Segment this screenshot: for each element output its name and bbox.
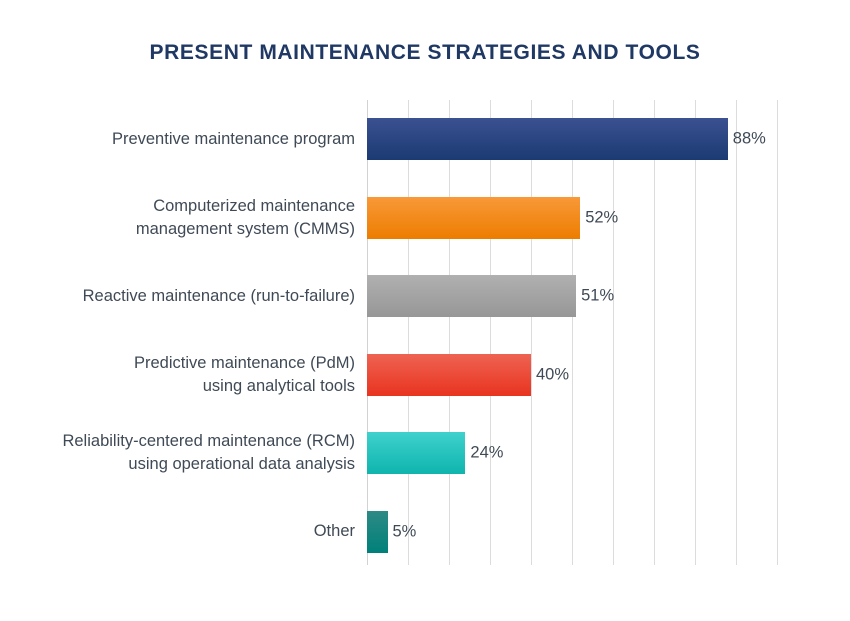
bar-row: 40% xyxy=(367,354,777,396)
category-label: Other xyxy=(10,520,355,543)
bar[interactable] xyxy=(367,197,580,239)
bar[interactable] xyxy=(367,511,388,553)
category-label-line: Reactive maintenance (run-to-failure) xyxy=(10,285,355,308)
category-label-line: management system (CMMS) xyxy=(10,218,355,241)
category-label: Reliability-centered maintenance (RCM)us… xyxy=(10,430,355,476)
bar-row: 24% xyxy=(367,432,777,474)
bar-value-label: 88% xyxy=(728,130,766,149)
bar-row: 5% xyxy=(367,511,777,553)
bar[interactable] xyxy=(367,275,576,317)
category-label-line: Reliability-centered maintenance (RCM) xyxy=(10,430,355,453)
plot-wrapper: Preventive maintenance programComputeriz… xyxy=(0,100,850,580)
gridline xyxy=(490,100,491,565)
bar[interactable] xyxy=(367,354,531,396)
plot-area: 88%52%51%40%24%5% xyxy=(367,100,777,565)
category-label-line: Predictive maintenance (PdM) xyxy=(10,352,355,375)
bar-row: 88% xyxy=(367,118,777,160)
category-label-line: Other xyxy=(10,520,355,543)
bar[interactable] xyxy=(367,118,728,160)
bar-chart-figure: PRESENT MAINTENANCE STRATEGIES AND TOOLS… xyxy=(0,0,850,621)
bar-value-label: 24% xyxy=(465,444,503,463)
category-label: Computerized maintenancemanagement syste… xyxy=(10,195,355,241)
gridline xyxy=(613,100,614,565)
bar-value-label: 51% xyxy=(576,287,614,306)
category-label-line: Preventive maintenance program xyxy=(10,128,355,151)
bar-value-label: 52% xyxy=(580,208,618,227)
bar-row: 52% xyxy=(367,197,777,239)
category-label: Reactive maintenance (run-to-failure) xyxy=(10,285,355,308)
gridline xyxy=(654,100,655,565)
bar-value-label: 40% xyxy=(531,365,569,384)
gridline xyxy=(531,100,532,565)
chart-title: PRESENT MAINTENANCE STRATEGIES AND TOOLS xyxy=(0,41,850,65)
bar[interactable] xyxy=(367,432,465,474)
gridline xyxy=(408,100,409,565)
gridline xyxy=(695,100,696,565)
category-label-line: Computerized maintenance xyxy=(10,195,355,218)
gridline xyxy=(449,100,450,565)
gridline xyxy=(736,100,737,565)
category-label: Preventive maintenance program xyxy=(10,128,355,151)
category-label-line: using analytical tools xyxy=(10,375,355,398)
axis-origin-line xyxy=(367,100,368,565)
gridline xyxy=(777,100,778,565)
bar-row: 51% xyxy=(367,275,777,317)
bar-value-label: 5% xyxy=(388,522,417,541)
gridline xyxy=(572,100,573,565)
category-label: Predictive maintenance (PdM)using analyt… xyxy=(10,352,355,398)
category-label-line: using operational data analysis xyxy=(10,453,355,476)
category-axis-labels: Preventive maintenance programComputeriz… xyxy=(0,100,355,580)
